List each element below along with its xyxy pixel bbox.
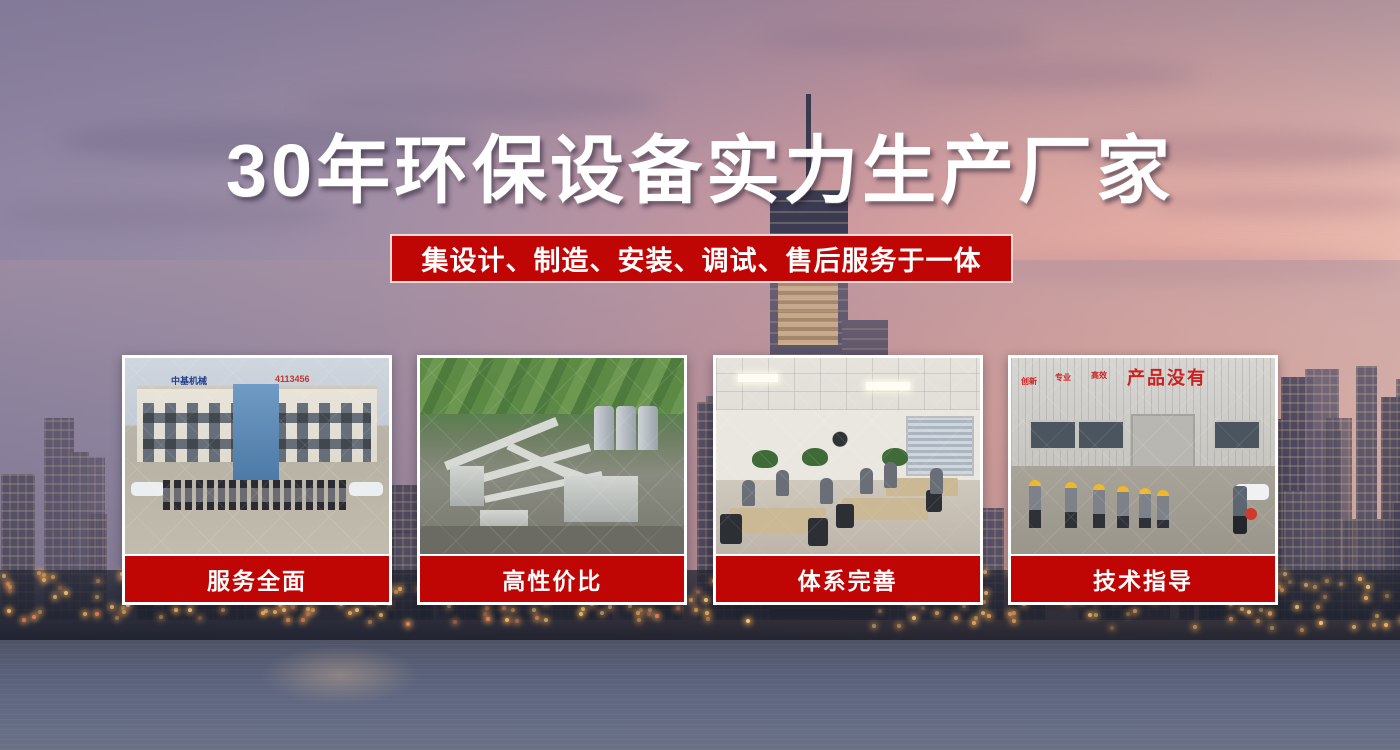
street-light [655,614,659,618]
street-light [1375,614,1379,618]
street-light [954,616,958,620]
street-light [306,607,310,611]
street-light [676,606,680,610]
page-title: 30年环保设备实力生产厂家 [0,128,1400,214]
street-light [96,579,100,583]
street-light [511,608,515,612]
street-light [38,610,42,614]
street-light [174,608,178,612]
staff-figure [196,480,203,510]
street-light [647,612,651,616]
staff-figure [284,480,291,510]
building-glass-atrium [233,384,279,480]
street-light [453,620,457,624]
street-light [8,589,12,593]
street-light [406,622,410,626]
street-light [379,613,383,617]
street-light [291,605,295,609]
worker-figure [1093,488,1105,528]
street-light [22,618,26,622]
street-light [1304,583,1308,587]
office-window-blinds [906,416,974,476]
street-light [1384,623,1388,627]
street-light [37,571,41,575]
feature-card[interactable]: 体系完善 [713,355,983,605]
street-light [1339,582,1343,586]
street-light [188,608,192,612]
office-staff-figure [776,470,789,496]
storage-silo [616,406,636,450]
staff-figure [240,480,247,510]
street-light [1385,594,1389,598]
river-water [0,640,1400,750]
feature-card[interactable]: 产品没有 创新 专业 高效 技术指导 [1008,355,1278,605]
worker-figure [1157,494,1169,528]
street-light [1319,621,1323,625]
factory-slogan-text: 专业 [1055,372,1071,383]
staff-figure [273,480,280,510]
hard-hat-icon [1093,484,1105,490]
street-light [301,618,305,622]
street-light [42,578,46,582]
street-light [878,609,882,613]
plant-access-road [420,526,684,554]
street-light [282,608,286,612]
street-light [974,616,978,620]
street-light [1094,613,1098,617]
feature-card-caption: 高性价比 [420,554,684,602]
street-light [981,611,985,615]
street-light [581,607,585,611]
street-light [897,624,901,628]
street-light [935,611,939,615]
office-staff-figure [860,468,873,494]
feature-card-caption: 技术指导 [1011,554,1275,602]
plant-building [450,466,484,506]
office-staff-figure [884,462,897,488]
office-staff-figure [930,468,943,494]
staff-figure [229,480,236,510]
storage-silo [638,406,658,450]
street-light [579,612,583,616]
street-light [485,606,489,610]
street-light [1259,608,1263,612]
street-light [348,611,352,615]
street-light [1325,579,1329,583]
company-headquarters-building-photo: 中基机械 4113456 [125,358,389,554]
street-light [544,618,548,622]
street-light [608,605,612,609]
street-light [1229,617,1233,621]
parked-car [349,482,383,496]
staff-figure [251,480,258,510]
street-light [264,609,268,613]
factory-slogan-text: 创新 [1021,376,1037,387]
street-light [694,608,698,612]
feature-card[interactable]: 中基机械 4113456 服务全面 [122,355,392,605]
worker-figure [1029,484,1041,528]
staff-figure [185,480,192,510]
street-light [706,617,710,621]
street-light [1193,625,1197,629]
street-light [121,606,125,610]
street-light [95,595,99,599]
street-light [1240,607,1244,611]
street-light [83,612,87,616]
ceiling-light [738,374,778,382]
office-interior-staff-photo [716,358,980,554]
factory-slogan-text: 高效 [1091,370,1107,381]
worker-figure [1065,486,1077,528]
subtitle-text: 集设计、制造、安装、调试、售后服务于一体 [422,239,982,278]
factory-window [1213,420,1261,450]
street-light [1008,612,1012,616]
street-light [1280,588,1284,592]
street-light [505,618,509,622]
staff-figure [328,480,335,510]
street-light [95,612,99,616]
street-light [32,615,36,619]
street-light [600,611,604,615]
plant-building [564,476,638,522]
street-light [221,608,225,612]
street-light [1126,612,1130,616]
staff-figure [207,480,214,510]
street-light [1372,623,1376,627]
feature-card-caption: 服务全面 [125,554,389,602]
street-light [1256,619,1260,623]
street-light [198,616,202,620]
hard-hat-icon [1029,480,1041,486]
subtitle-banner: 集设计、制造、安装、调试、售后服务于一体 [390,234,1013,283]
street-light [532,608,536,612]
street-light [53,595,57,599]
street-light [115,616,119,620]
street-light [110,605,114,609]
street-light [1288,580,1292,584]
hard-hat-icon [1117,486,1129,492]
street-light [486,617,490,621]
street-light [355,608,359,612]
street-light [273,610,277,614]
office-staff-figure [820,478,833,504]
street-light [639,608,643,612]
street-light [705,611,709,615]
building-phone-text: 4113456 [275,374,310,384]
street-light [1247,610,1251,614]
street-light [1270,626,1274,630]
street-light [746,619,750,623]
street-light [972,621,976,625]
staff-figure [317,480,324,510]
street-light [2,574,6,578]
street-light [1323,595,1327,599]
factory-workers-training-photo: 产品没有 创新 专业 高效 [1011,358,1275,554]
staff-figure [339,480,346,510]
street-light [1352,625,1356,629]
street-light [51,575,55,579]
factory-banner-text: 产品没有 [1127,364,1207,390]
office-chair [808,518,828,546]
feature-card[interactable]: 高性价比 [417,355,687,605]
parked-car [131,482,165,496]
staff-figure [163,480,170,510]
storage-silo [594,406,614,450]
staff-figure [262,480,269,510]
street-light [1295,605,1299,609]
street-light [1012,619,1016,623]
staff-figure [174,480,181,510]
street-light [1300,628,1304,632]
street-light [64,591,68,595]
red-helmet-icon [1245,508,1257,520]
street-light [58,586,62,590]
potted-plant [752,450,778,468]
street-light [1366,585,1370,589]
office-staff-figure [742,480,755,506]
street-light [7,609,11,613]
street-light [1088,613,1092,617]
street-light [987,614,991,618]
factory-window [1029,420,1077,450]
aerial-industrial-plant-photo [420,358,684,554]
street-light [1364,596,1368,600]
street-light [1268,611,1272,615]
street-light [42,573,46,577]
potted-plant [802,448,828,466]
hard-hat-icon [1139,488,1151,494]
street-light [637,618,641,622]
office-ceiling [716,358,980,410]
street-light [1133,609,1137,613]
street-light [368,620,372,624]
street-light [1313,585,1317,589]
street-light [286,618,290,622]
cloud-shape [900,60,1200,90]
office-chair [720,514,742,544]
street-light [515,619,519,623]
street-light [1358,577,1362,581]
street-light [159,615,163,619]
street-light [1283,572,1287,576]
staff-figure [295,480,302,510]
factory-window [1077,420,1125,450]
worker-figure [1117,490,1129,528]
hard-hat-icon [1065,482,1077,488]
street-light [502,606,506,610]
street-light [1316,605,1320,609]
worker-figure [1139,492,1151,528]
factory-door [1131,414,1195,474]
street-light [122,610,126,614]
street-light [921,606,925,610]
street-light [311,608,315,612]
plant-structures [444,422,654,532]
office-desk [842,498,928,520]
street-light [483,612,487,616]
street-light [1110,626,1114,630]
cloud-shape [760,26,1040,52]
feature-card-caption: 体系完善 [716,554,980,602]
street-light [306,612,310,616]
wall-decal [820,420,860,452]
river-light-reflection [260,645,420,705]
building-sign-text: 中基机械 [171,374,207,387]
hard-hat-icon [1157,490,1169,496]
staff-figure [306,480,313,510]
promotional-hero-banner: 30年环保设备实力生产厂家 集设计、制造、安装、调试、售后服务于一体 中基机械 … [0,0,1400,750]
office-chair [836,504,854,528]
ceiling-light [866,382,910,390]
street-light [872,624,876,628]
cloud-shape [300,86,660,120]
staff-figure [218,480,225,510]
street-light [1012,611,1016,615]
street-light [535,616,539,620]
street-light [912,616,916,620]
feature-card-list: 中基机械 4113456 服务全面 高性价比 [122,355,1278,605]
